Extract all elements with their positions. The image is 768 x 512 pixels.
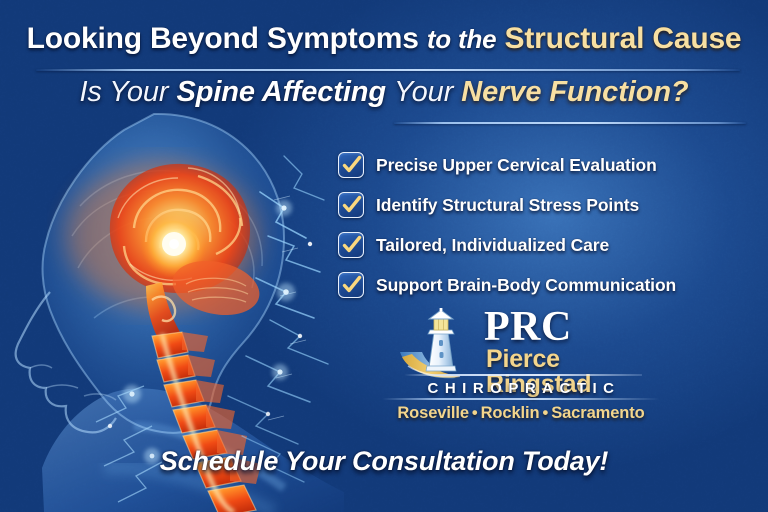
city-rocklin: Rocklin: [481, 404, 540, 422]
subheadline-part-2: Spine Affecting: [176, 76, 386, 108]
checkmark-icon: [338, 272, 364, 298]
headline: Looking Beyond Symptoms to the Structura…: [0, 22, 768, 56]
headline-part-2: to the: [427, 24, 497, 54]
lighthouse-icon: [398, 308, 484, 382]
subheadline: Is Your Spine Affecting Your Nerve Funct…: [0, 76, 768, 109]
logo-initials: PRC: [484, 306, 572, 348]
logo-divider: [404, 374, 642, 376]
city-sacramento: Sacramento: [551, 404, 644, 422]
brand-logo: PRC Pierce Ringstad CHIROPRACTIC: [398, 306, 648, 398]
headline-part-3: Structural Cause: [505, 22, 742, 55]
subheadline-part-3: Your: [394, 76, 453, 108]
logo-discipline: CHIROPRACTIC: [402, 380, 646, 397]
list-item-label: Identify Structural Stress Points: [376, 195, 639, 216]
list-item-label: Support Brain-Body Communication: [376, 275, 676, 296]
checkmark-icon: [338, 152, 364, 178]
call-to-action: Schedule Your Consultation Today!: [0, 446, 768, 477]
list-item: Identify Structural Stress Points: [338, 186, 758, 224]
city-roseville: Roseville: [397, 404, 469, 422]
subheadline-part-1: Is Your: [79, 76, 168, 108]
checkmark-icon: [338, 192, 364, 218]
cities-divider: [382, 398, 660, 400]
list-item: Precise Upper Cervical Evaluation: [338, 146, 758, 184]
advertisement-banner: Looking Beyond Symptoms to the Structura…: [0, 0, 768, 512]
header-divider-top: [36, 69, 740, 71]
bullet-separator-icon: •: [469, 404, 481, 422]
list-item-label: Precise Upper Cervical Evaluation: [376, 155, 657, 176]
headline-part-1: Looking Beyond Symptoms: [27, 22, 419, 55]
checkmark-icon: [338, 232, 364, 258]
subheadline-part-4: Nerve Function?: [461, 76, 688, 108]
header-divider-bottom: [394, 122, 746, 124]
list-item-label: Tailored, Individualized Care: [376, 235, 609, 256]
service-cities: Roseville•Rocklin•Sacramento: [382, 404, 660, 423]
list-item: Tailored, Individualized Care: [338, 226, 758, 264]
list-item: Support Brain-Body Communication: [338, 266, 758, 304]
benefits-list: Precise Upper Cervical Evaluation Identi…: [338, 146, 758, 306]
bullet-separator-icon: •: [540, 404, 552, 422]
